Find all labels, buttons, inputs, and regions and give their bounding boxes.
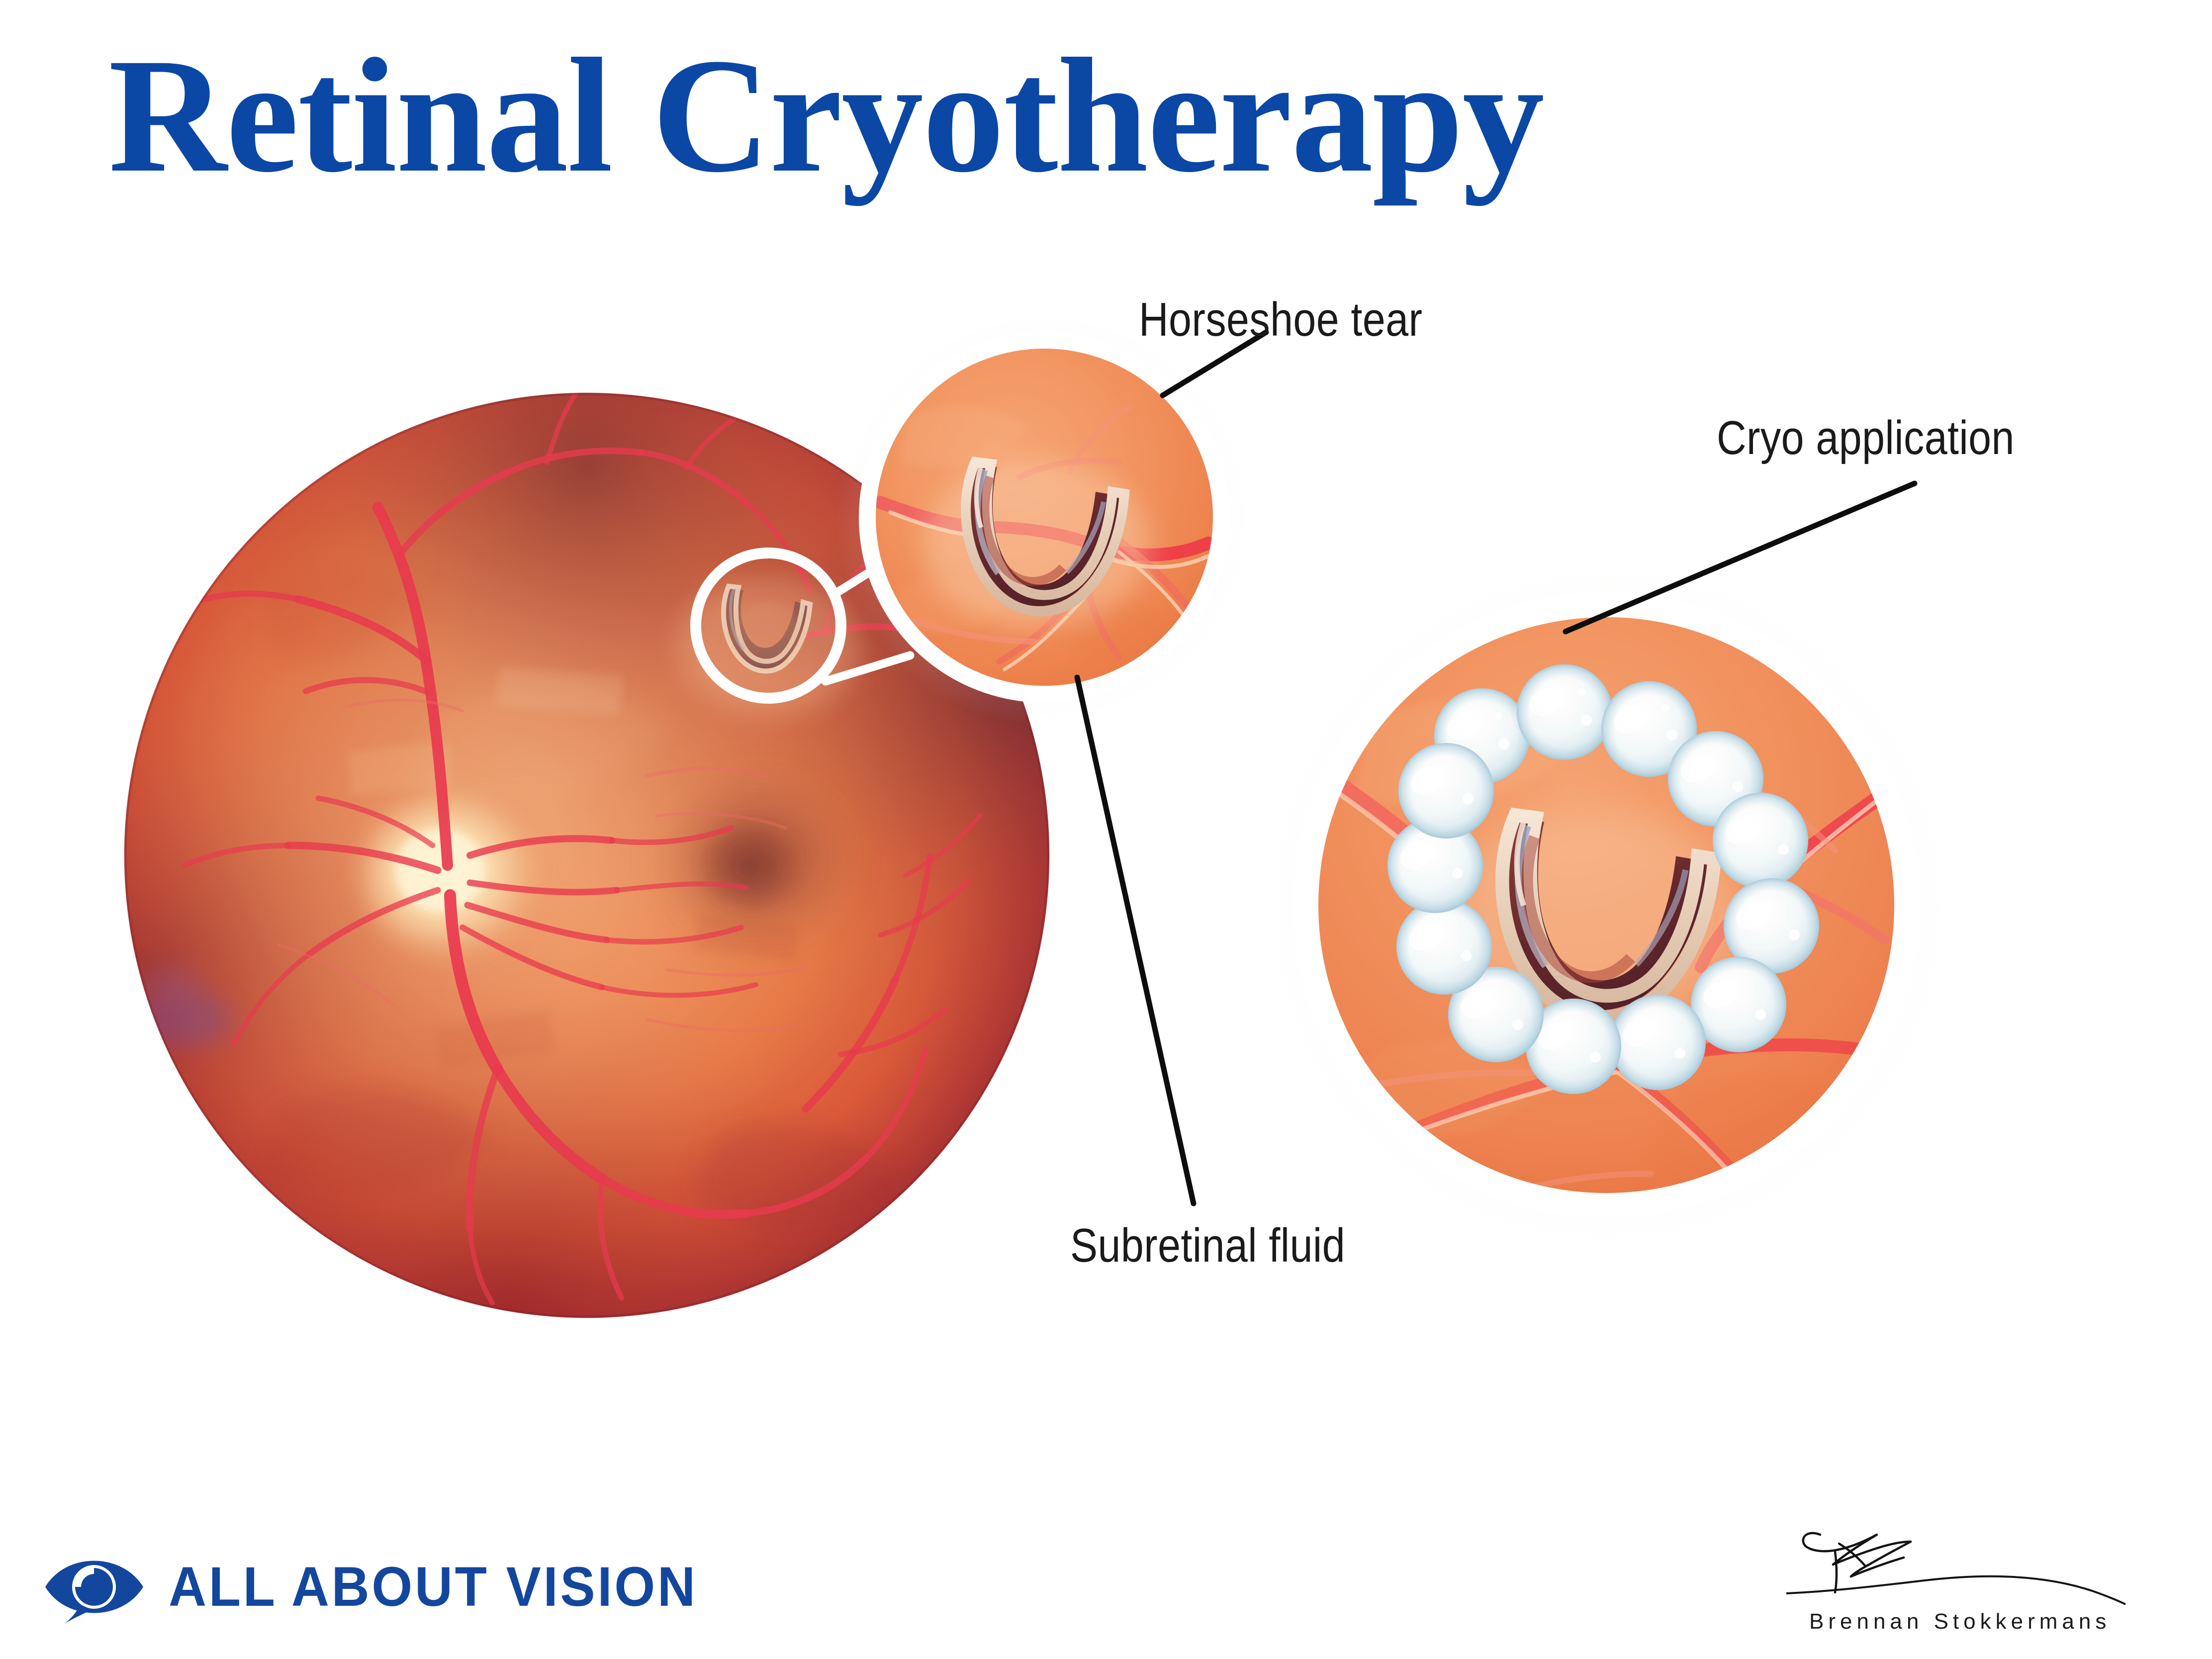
illustration-canvas: Retinal Cryotherapy xyxy=(0,0,2212,1659)
signature-name: Brennan Stokkermans xyxy=(1809,1609,2111,1634)
label-horseshoe-tear: Horseshoe tear xyxy=(1139,292,1422,347)
brand-logo[interactable]: ALL ABOUT VISION xyxy=(42,1544,732,1629)
logo-wordmark: ALL ABOUT VISION xyxy=(169,1555,698,1619)
label-subretinal-fluid: Subretinal fluid xyxy=(1070,1218,1345,1273)
artist-signature: Brennan Stokkermans xyxy=(1785,1522,2133,1641)
magnified-tear-circle xyxy=(835,308,1253,726)
magnified-cryo-circle xyxy=(1258,557,1954,1253)
leader-line-subretinal-fluid xyxy=(1077,677,1194,1203)
eye-icon xyxy=(42,1544,147,1629)
label-cryo-application: Cryo application xyxy=(1717,411,2015,465)
signature-mark xyxy=(1785,1522,2133,1621)
medical-illustration-svg xyxy=(0,0,2212,1659)
macula xyxy=(649,763,863,957)
